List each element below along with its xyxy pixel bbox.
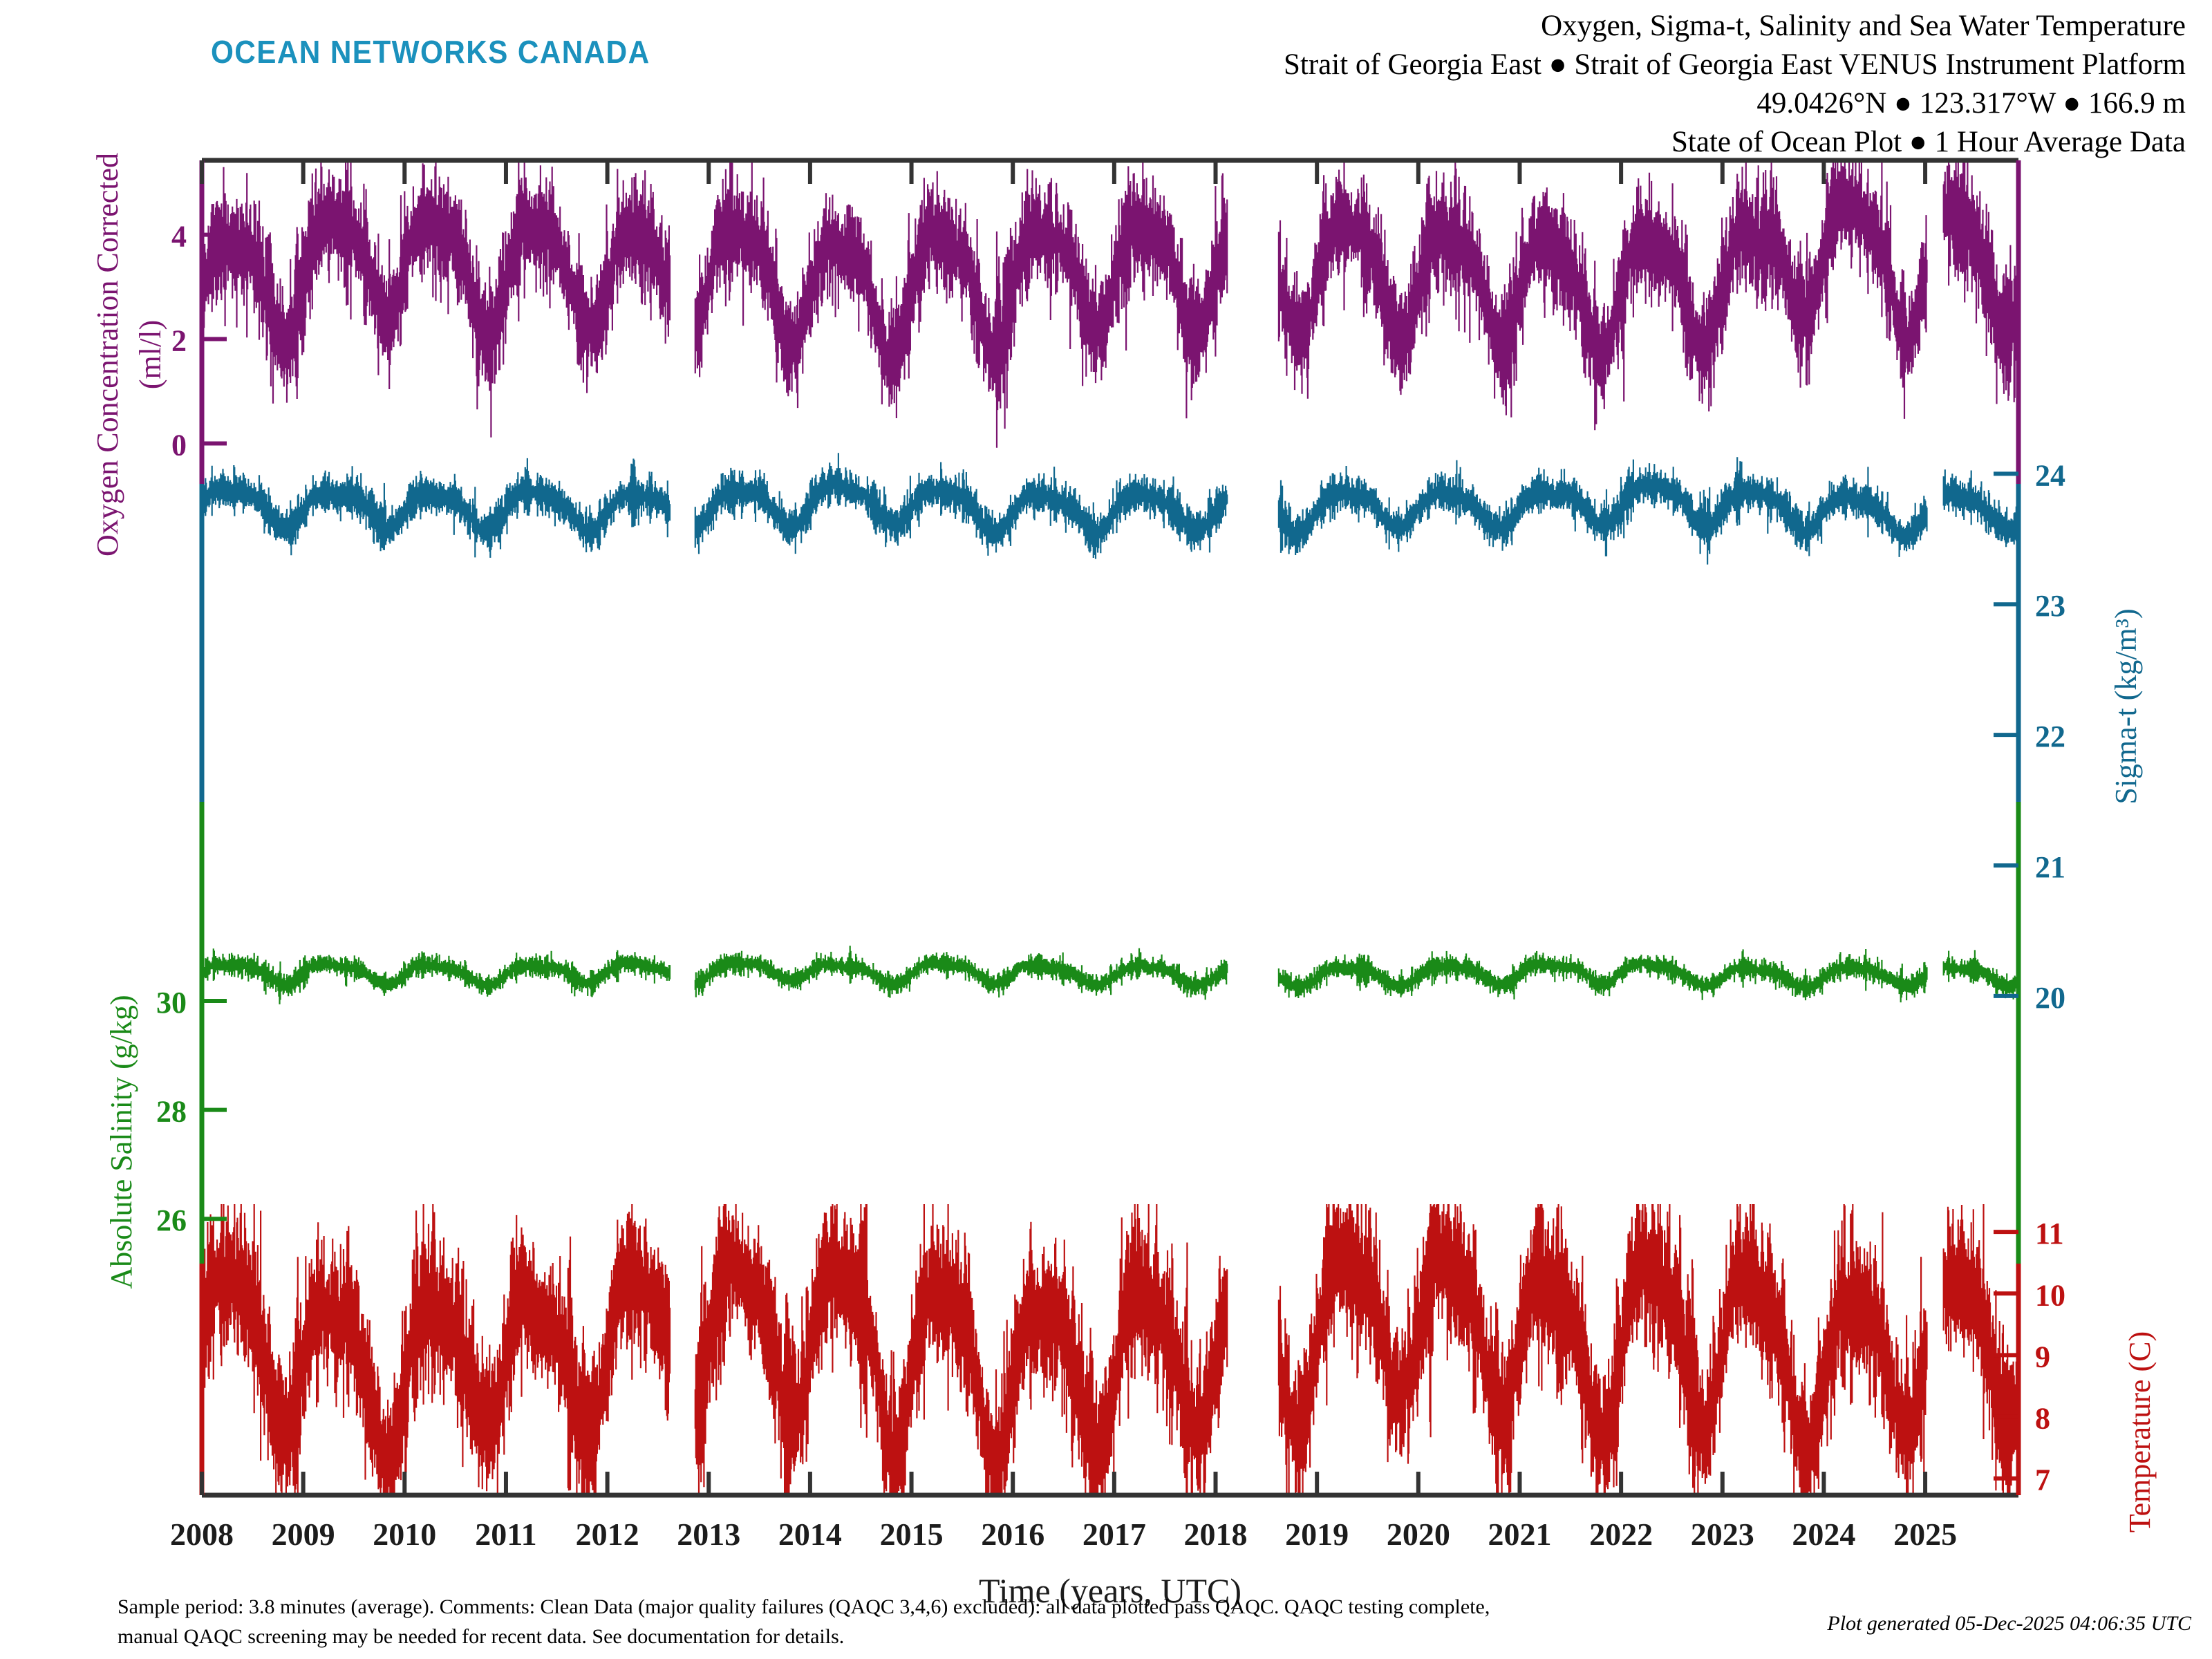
svg-text:0: 0 bbox=[171, 428, 187, 462]
series-layer bbox=[202, 162, 2018, 1494]
svg-text:2024: 2024 bbox=[1792, 1517, 1855, 1552]
plot-generated-timestamp: Plot generated 05-Dec-2025 04:06:35 UTC bbox=[1827, 1612, 2191, 1635]
svg-text:2023: 2023 bbox=[1691, 1517, 1754, 1552]
footer: Sample period: 3.8 minutes (average). Co… bbox=[0, 1587, 2212, 1659]
svg-text:2011: 2011 bbox=[475, 1517, 536, 1552]
svg-text:4: 4 bbox=[171, 220, 187, 254]
svg-text:Temperature (C): Temperature (C) bbox=[2123, 1331, 2157, 1533]
svg-text:2013: 2013 bbox=[677, 1517, 740, 1552]
series-sigma-t bbox=[202, 453, 2018, 564]
footer-note-line1: Sample period: 3.8 minutes (average). Co… bbox=[118, 1593, 1749, 1622]
chart-canvas: 024Oxygen Concentration Corrected(ml/l)2… bbox=[0, 0, 2212, 1659]
svg-text:2018: 2018 bbox=[1184, 1517, 1248, 1552]
svg-text:22: 22 bbox=[2035, 720, 2065, 753]
svg-text:20: 20 bbox=[2035, 981, 2065, 1015]
svg-text:2014: 2014 bbox=[778, 1517, 842, 1552]
series-temperature bbox=[202, 1204, 2018, 1494]
svg-text:2019: 2019 bbox=[1285, 1517, 1349, 1552]
timeseries-plot: 024Oxygen Concentration Corrected(ml/l)2… bbox=[0, 0, 2212, 1659]
svg-text:10: 10 bbox=[2035, 1278, 2065, 1312]
series-path bbox=[202, 453, 2018, 564]
svg-text:2025: 2025 bbox=[1893, 1517, 1957, 1552]
svg-text:Absolute Salinity (g/kg): Absolute Salinity (g/kg) bbox=[104, 995, 138, 1288]
svg-text:Oxygen Concentration Corrected: Oxygen Concentration Corrected bbox=[91, 153, 124, 556]
svg-text:23: 23 bbox=[2035, 589, 2065, 623]
svg-text:2016: 2016 bbox=[981, 1517, 1044, 1552]
svg-text:2020: 2020 bbox=[1387, 1517, 1450, 1552]
svg-text:9: 9 bbox=[2035, 1340, 2050, 1374]
svg-text:2009: 2009 bbox=[272, 1517, 335, 1552]
series-path bbox=[202, 946, 2018, 1004]
svg-text:8: 8 bbox=[2035, 1402, 2050, 1436]
svg-text:21: 21 bbox=[2035, 850, 2065, 884]
footer-qaqc-note: Sample period: 3.8 minutes (average). Co… bbox=[118, 1593, 1749, 1651]
svg-text:2017: 2017 bbox=[1082, 1517, 1146, 1552]
svg-text:2022: 2022 bbox=[1589, 1517, 1653, 1552]
svg-text:Sigma-t (kg/m³): Sigma-t (kg/m³) bbox=[2109, 608, 2143, 804]
svg-text:26: 26 bbox=[156, 1203, 187, 1237]
svg-text:7: 7 bbox=[2035, 1463, 2050, 1497]
series-path bbox=[202, 1204, 2018, 1494]
svg-text:2008: 2008 bbox=[170, 1517, 234, 1552]
svg-text:2021: 2021 bbox=[1488, 1517, 1551, 1552]
series-oxygen-concentration-corrected bbox=[202, 162, 2018, 448]
svg-text:28: 28 bbox=[156, 1095, 187, 1129]
svg-text:2010: 2010 bbox=[373, 1517, 436, 1552]
series-absolute-salinity bbox=[202, 946, 2018, 1004]
svg-text:30: 30 bbox=[156, 986, 187, 1020]
svg-text:2: 2 bbox=[171, 324, 187, 358]
svg-text:11: 11 bbox=[2035, 1217, 2064, 1250]
series-path bbox=[202, 162, 2018, 448]
svg-text:2015: 2015 bbox=[880, 1517, 944, 1552]
svg-text:2012: 2012 bbox=[576, 1517, 639, 1552]
svg-text:24: 24 bbox=[2035, 458, 2065, 492]
footer-note-line2: manual QAQC screening may be needed for … bbox=[118, 1622, 1749, 1652]
svg-text:(ml/l): (ml/l) bbox=[133, 320, 167, 389]
